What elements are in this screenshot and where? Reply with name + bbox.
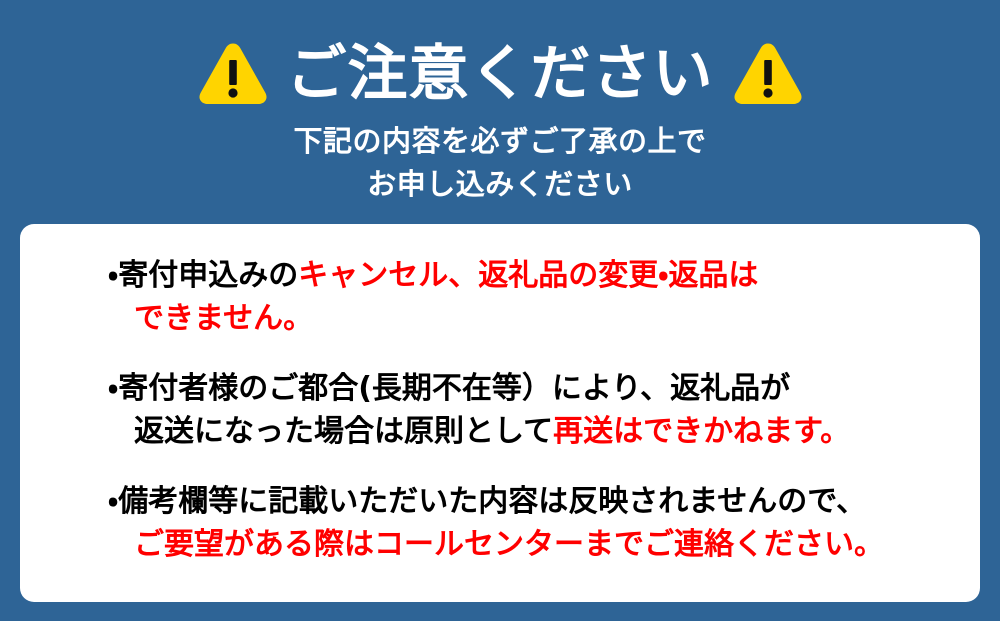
bullet-marker: ・	[108, 371, 118, 406]
banner-header: ご注意ください 下記の内容を必ずご了承の上で お申し込みください	[0, 0, 1000, 224]
notice-card: ・寄付申込みのキャンセル、返礼品の変更・返品はできません。・寄付者様のご都合(長…	[20, 224, 980, 602]
title-row: ご注意ください	[0, 32, 1000, 116]
notice-text-emphasis: ご要望がある際はコールセンターまでご連絡ください。	[134, 527, 884, 562]
notice-text: 備考欄等に記載いただいた内容は反映されませんので、	[118, 484, 866, 519]
warning-triangle-icon-left	[197, 38, 269, 110]
bullet-marker: ・	[108, 484, 118, 519]
notice-list: ・寄付申込みのキャンセル、返礼品の変更・返品はできません。・寄付者様のご都合(長…	[108, 254, 958, 566]
notice-text-emphasis: できません。	[134, 301, 313, 336]
banner-subtitle: 下記の内容を必ずご了承の上で お申し込みください	[0, 120, 1000, 206]
notice-line: 返送になった場合は原則として再送はできかねます。	[108, 410, 958, 453]
warning-banner: ご注意ください 下記の内容を必ずご了承の上で お申し込みください ・寄付申込みの…	[0, 0, 1000, 621]
notice-text-emphasis: キャンセル、返礼品の変更・返品は	[298, 258, 758, 293]
page-title: ご注意ください	[287, 44, 714, 104]
notice-line: ご要望がある際はコールセンターまでご連絡ください。	[108, 523, 958, 566]
warning-triangle-icon-right	[732, 38, 804, 110]
notice-item: ・備考欄等に記載いただいた内容は反映されませんので、ご要望がある際はコールセンタ…	[108, 480, 958, 566]
subtitle-line-2: お申し込みください	[0, 163, 1000, 206]
notice-line: ・寄付者様のご都合(長期不在等）により、返礼品が	[108, 367, 958, 410]
notice-text: 寄付申込みの	[118, 258, 298, 293]
notice-text: 返送になった場合は原則として	[134, 414, 553, 449]
notice-line: ・備考欄等に記載いただいた内容は反映されませんので、	[108, 480, 958, 523]
notice-line: できません。	[108, 297, 958, 340]
bullet-marker: ・	[108, 258, 118, 293]
notice-line: ・寄付申込みのキャンセル、返礼品の変更・返品は	[108, 254, 958, 297]
subtitle-line-1: 下記の内容を必ずご了承の上で	[0, 120, 1000, 163]
notice-text-emphasis: 再送はできかねます。	[553, 414, 850, 449]
notice-item: ・寄付者様のご都合(長期不在等）により、返礼品が返送になった場合は原則として再送…	[108, 367, 958, 453]
notice-text: 寄付者様のご都合(長期不在等）により、返礼品が	[118, 371, 790, 406]
notice-item: ・寄付申込みのキャンセル、返礼品の変更・返品はできません。	[108, 254, 958, 340]
